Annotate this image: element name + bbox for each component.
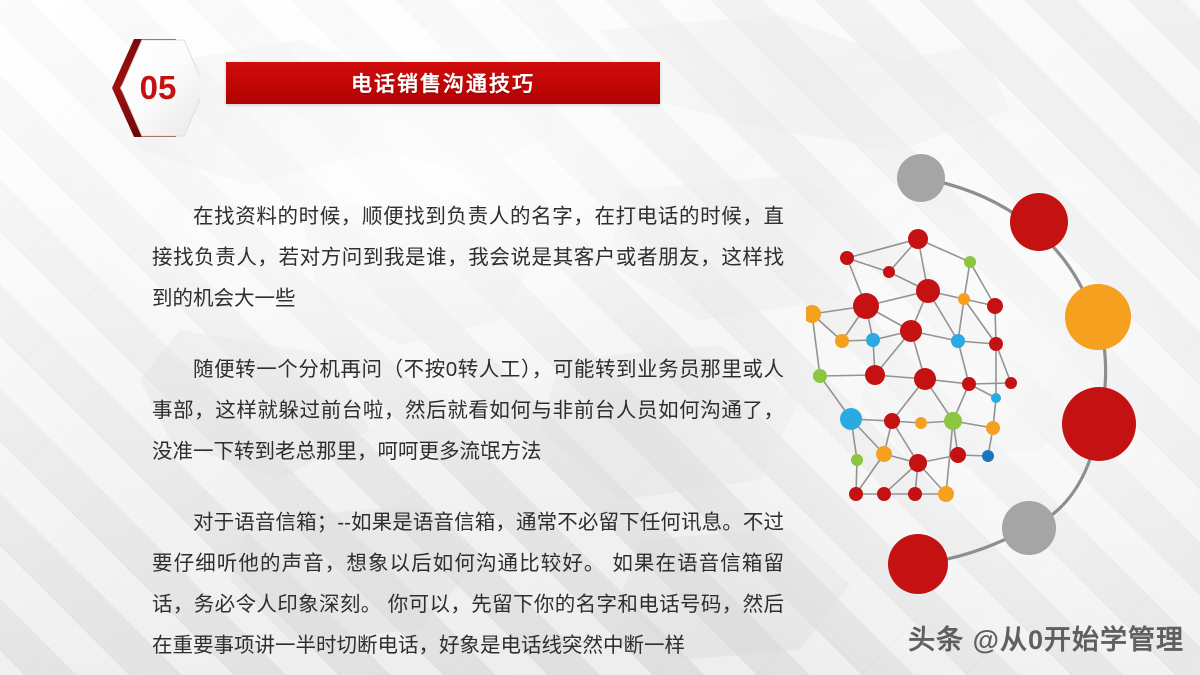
- network-node: [853, 293, 879, 319]
- paragraph-3: 对于语音信箱；--如果是语音信箱，通常不必留下任何讯息。不过要仔细听他的声音，想…: [152, 502, 784, 666]
- network-node: [944, 412, 962, 430]
- section-number-badge: 05: [104, 33, 200, 143]
- network-node: [958, 293, 970, 305]
- network-node: [951, 334, 965, 348]
- network-node: [915, 417, 927, 429]
- network-node: [982, 450, 994, 462]
- network-node: [914, 368, 936, 390]
- network-node: [884, 413, 900, 429]
- network-node: [909, 454, 927, 472]
- network-node: [938, 486, 954, 502]
- section-title-bar: 电话销售沟通技巧: [226, 62, 660, 104]
- network-cluster-nodes: [806, 229, 1017, 502]
- network-arc-node: [897, 154, 945, 202]
- network-node: [916, 279, 940, 303]
- network-node: [987, 298, 1003, 314]
- network-node: [908, 487, 922, 501]
- network-node: [908, 229, 928, 249]
- network-arc-node: [1002, 501, 1056, 555]
- network-node: [900, 320, 922, 342]
- watermark-text: 头条 @从0开始学管理: [908, 618, 1184, 657]
- paragraph-1: 在找资料的时候，顺便找到负责人的名字，在打电话的时候，直接找负责人，若对方问到我…: [152, 196, 784, 319]
- network-node: [964, 256, 976, 268]
- network-node: [865, 365, 885, 385]
- network-node: [835, 334, 849, 348]
- network-arc-node: [1062, 387, 1136, 461]
- arc-path: [918, 178, 1106, 564]
- network-node: [877, 487, 891, 501]
- network-diagram: [806, 136, 1200, 602]
- slide-canvas: 05 电话销售沟通技巧 在找资料的时候，顺便找到负责人的名字，在打电话的时候，直…: [0, 0, 1200, 675]
- body-text-block: 在找资料的时候，顺便找到负责人的名字，在打电话的时候，直接找负责人，若对方问到我…: [152, 196, 784, 666]
- network-node: [962, 377, 976, 391]
- network-edges: [812, 239, 1011, 494]
- network-node: [876, 446, 892, 462]
- network-node: [950, 447, 966, 463]
- network-node: [840, 408, 862, 430]
- network-node: [840, 251, 854, 265]
- paragraph-2: 随便转一个分机再问（不按0转人工），可能转到业务员那里或人事部，这样就躲过前台啦…: [152, 349, 784, 472]
- network-arc-node: [1010, 193, 1068, 251]
- network-node: [866, 333, 880, 347]
- network-node: [1005, 377, 1017, 389]
- network-node: [883, 266, 895, 278]
- network-node: [849, 487, 863, 501]
- network-node: [986, 421, 1000, 435]
- network-node: [851, 454, 863, 466]
- network-arc-node: [1065, 284, 1131, 350]
- network-node: [991, 393, 1001, 403]
- network-arc-node: [888, 534, 948, 594]
- section-number-text: 05: [104, 33, 200, 143]
- network-node: [813, 369, 827, 383]
- network-node: [989, 337, 1003, 351]
- page-title: 电话销售沟通技巧: [351, 68, 535, 98]
